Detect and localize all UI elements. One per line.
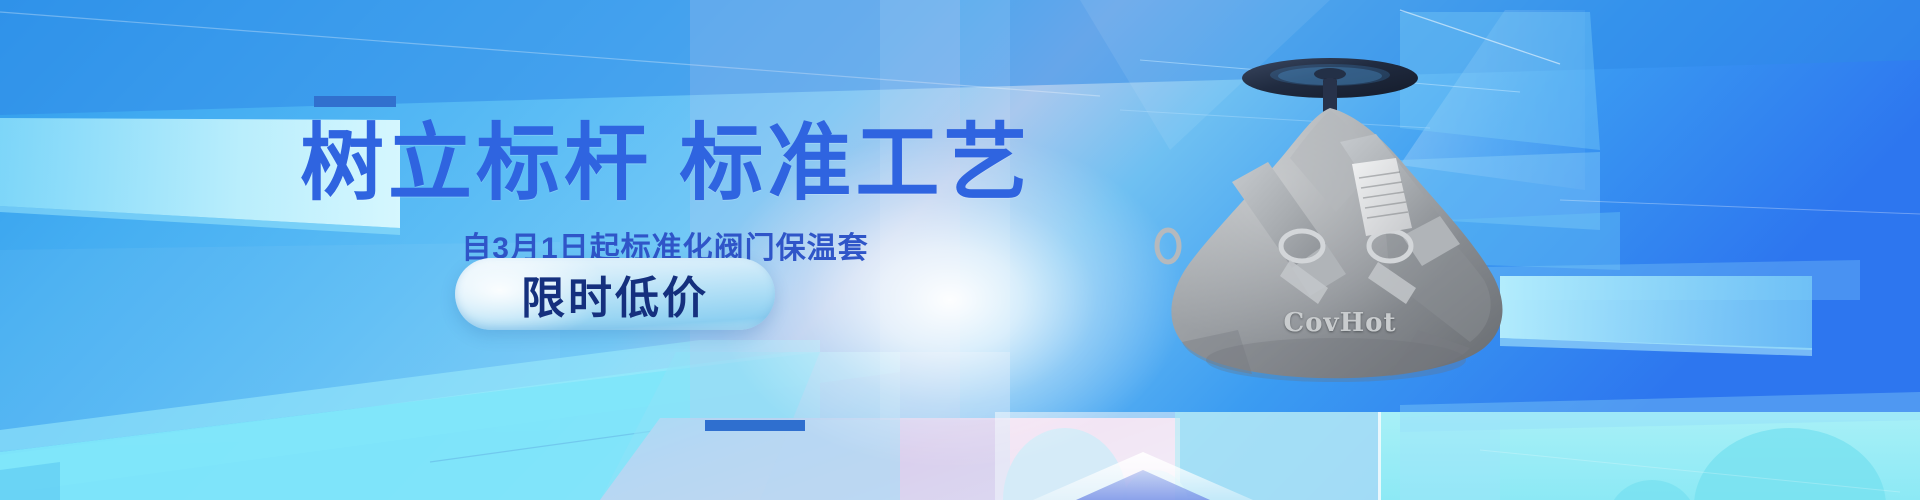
valve-insulation-jacket-illustration [1140, 30, 1540, 390]
headline-block: 树立标杆 标准工艺 自3月1日起标准化阀门保温套 [300, 96, 940, 267]
accent-bar-bottom-icon [705, 420, 805, 431]
cta-button[interactable]: 限时低价 [455, 258, 775, 330]
background-graphics [0, 0, 1920, 500]
page-title: 树立标杆 标准工艺 [300, 121, 940, 207]
cta-label: 限时低价 [455, 258, 775, 330]
accent-bar-top-icon [314, 96, 396, 107]
product-image: CovHot [1140, 30, 1540, 390]
jacket-side-loop [1157, 230, 1179, 262]
background-shapes [0, 0, 1920, 500]
promo-banner: 树立标杆 标准工艺 自3月1日起标准化阀门保温套 限时低价 [0, 0, 1920, 500]
valve-handwheel [1242, 58, 1418, 114]
